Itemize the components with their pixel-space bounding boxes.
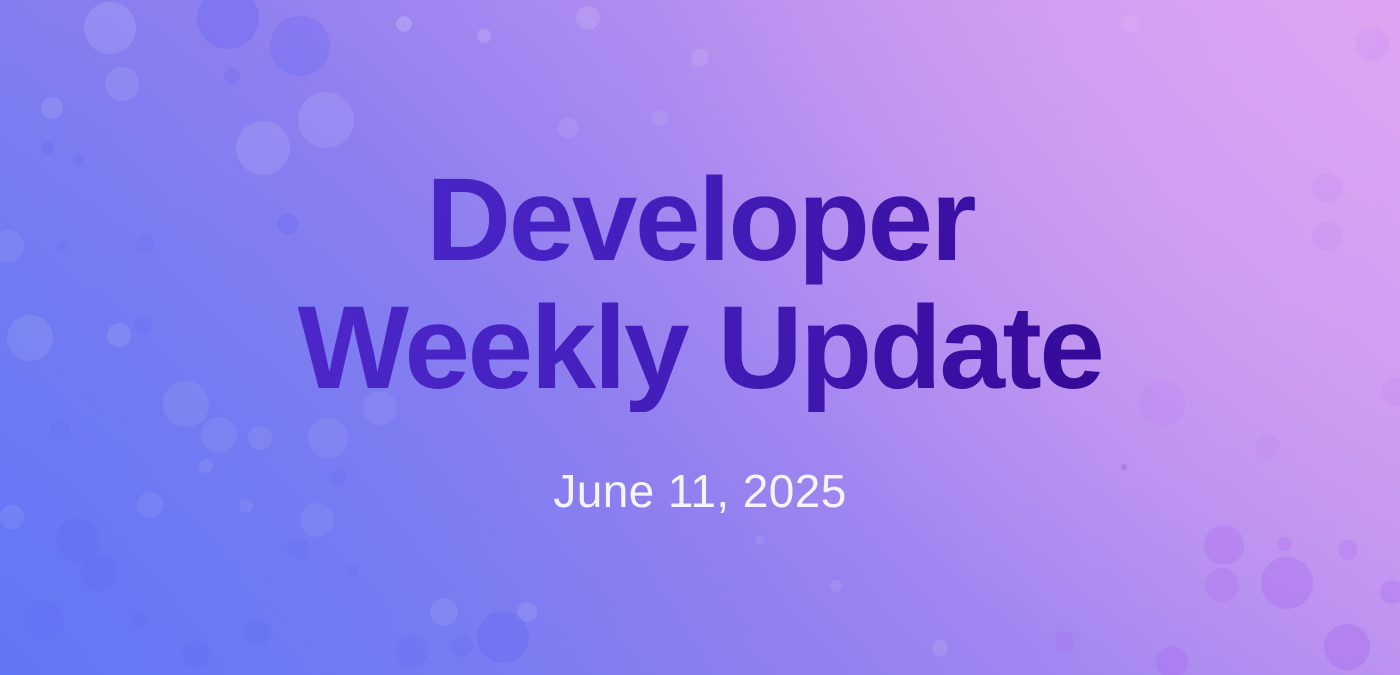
slide-title: Developer Weekly Update bbox=[298, 157, 1103, 412]
slide-date-subtitle: June 11, 2025 bbox=[553, 464, 846, 518]
slide-content: Developer Weekly Update June 11, 2025 bbox=[0, 0, 1400, 675]
slide-canvas: Developer Weekly Update June 11, 2025 bbox=[0, 0, 1400, 675]
